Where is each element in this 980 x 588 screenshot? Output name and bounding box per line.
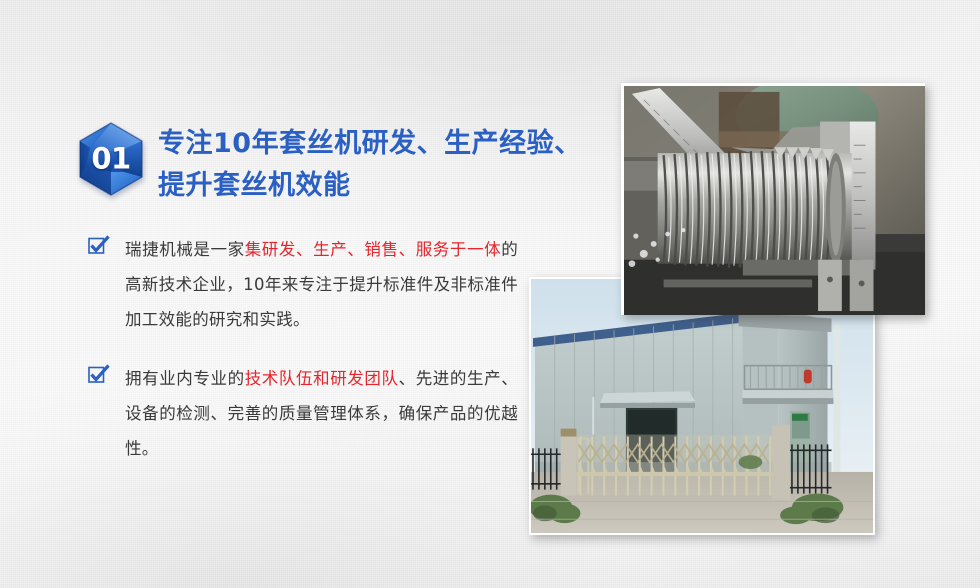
factory-building-image bbox=[531, 279, 873, 533]
list-item: 拥有业内专业的技术队伍和研发团队、先进的生产、设备的检测、完善的质量管理体系，确… bbox=[88, 361, 518, 466]
bullet-2-part-1: 拥有业内专业的 bbox=[125, 369, 245, 388]
checkbox-checked-icon bbox=[88, 235, 110, 255]
threaded-pipe-image bbox=[624, 86, 925, 315]
promo-banner: 01 专注10年套丝机研发、生产经验、 提升套丝机效能 瑞捷机械是一家集研发、生… bbox=[0, 0, 980, 588]
headline-line-2: 提升套丝机效能 bbox=[158, 165, 582, 207]
step-number-text: 01 bbox=[78, 141, 144, 175]
checkbox-checked-icon bbox=[88, 364, 110, 384]
threaded-pipe-caliper-photo bbox=[621, 83, 925, 315]
bullet-1-part-1: 瑞捷机械是一家 bbox=[125, 240, 245, 259]
page-title: 专注10年套丝机研发、生产经验、 提升套丝机效能 bbox=[158, 120, 582, 207]
factory-building-photo bbox=[529, 277, 875, 535]
headline-row: 01 专注10年套丝机研发、生产经验、 提升套丝机效能 bbox=[78, 120, 538, 207]
list-item-text: 拥有业内专业的技术队伍和研发团队、先进的生产、设备的检测、完善的质量管理体系，确… bbox=[125, 361, 518, 466]
bullet-1-highlight: 集研发、生产、销售、服务于一体 bbox=[245, 240, 502, 259]
bullet-2-highlight: 技术队伍和研发团队 bbox=[245, 369, 399, 388]
banner-content: 01 专注10年套丝机研发、生产经验、 提升套丝机效能 瑞捷机械是一家集研发、生… bbox=[0, 0, 540, 588]
headline-line-1: 专注10年套丝机研发、生产经验、 bbox=[158, 128, 582, 159]
list-item: 瑞捷机械是一家集研发、生产、销售、服务于一体的高新技术企业，10年来专注于提升标… bbox=[88, 232, 518, 337]
step-number-badge: 01 bbox=[78, 122, 144, 196]
feature-list: 瑞捷机械是一家集研发、生产、销售、服务于一体的高新技术企业，10年来专注于提升标… bbox=[88, 232, 518, 490]
list-item-text: 瑞捷机械是一家集研发、生产、销售、服务于一体的高新技术企业，10年来专注于提升标… bbox=[125, 232, 518, 337]
